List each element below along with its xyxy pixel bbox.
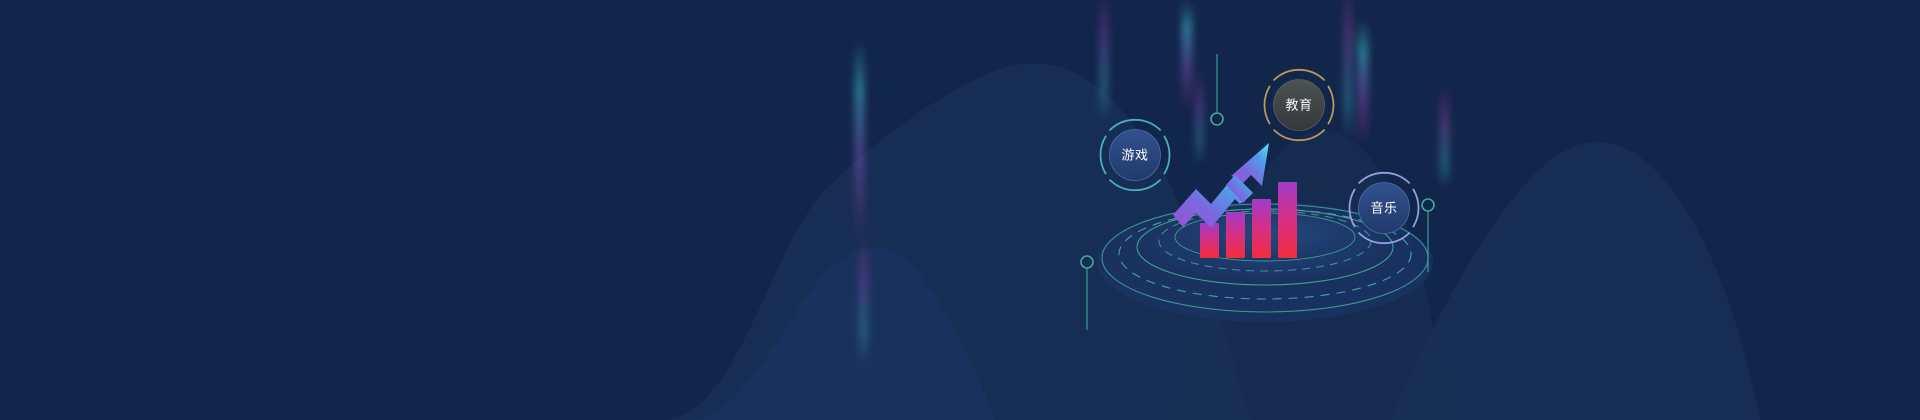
badge-label-music: 音乐 (1370, 201, 1397, 216)
light-beam (1344, 0, 1352, 140)
hero-banner: 游戏 教育 音乐 (0, 0, 1920, 420)
light-beam (1358, 20, 1368, 145)
light-beam (1100, 0, 1108, 120)
light-beam (1440, 85, 1449, 190)
bar-1 (1200, 223, 1219, 258)
badge-label-education: 教育 (1285, 98, 1312, 113)
light-beam (1196, 70, 1203, 165)
badge-label-game: 游戏 (1121, 148, 1148, 163)
bar-2 (1226, 212, 1245, 258)
light-beam (855, 40, 864, 240)
bar-3 (1252, 199, 1271, 258)
light-beam (860, 235, 867, 365)
light-beam (1182, 0, 1192, 110)
hero-illustration: 游戏 教育 音乐 (0, 0, 1920, 420)
bar-4 (1278, 182, 1297, 258)
